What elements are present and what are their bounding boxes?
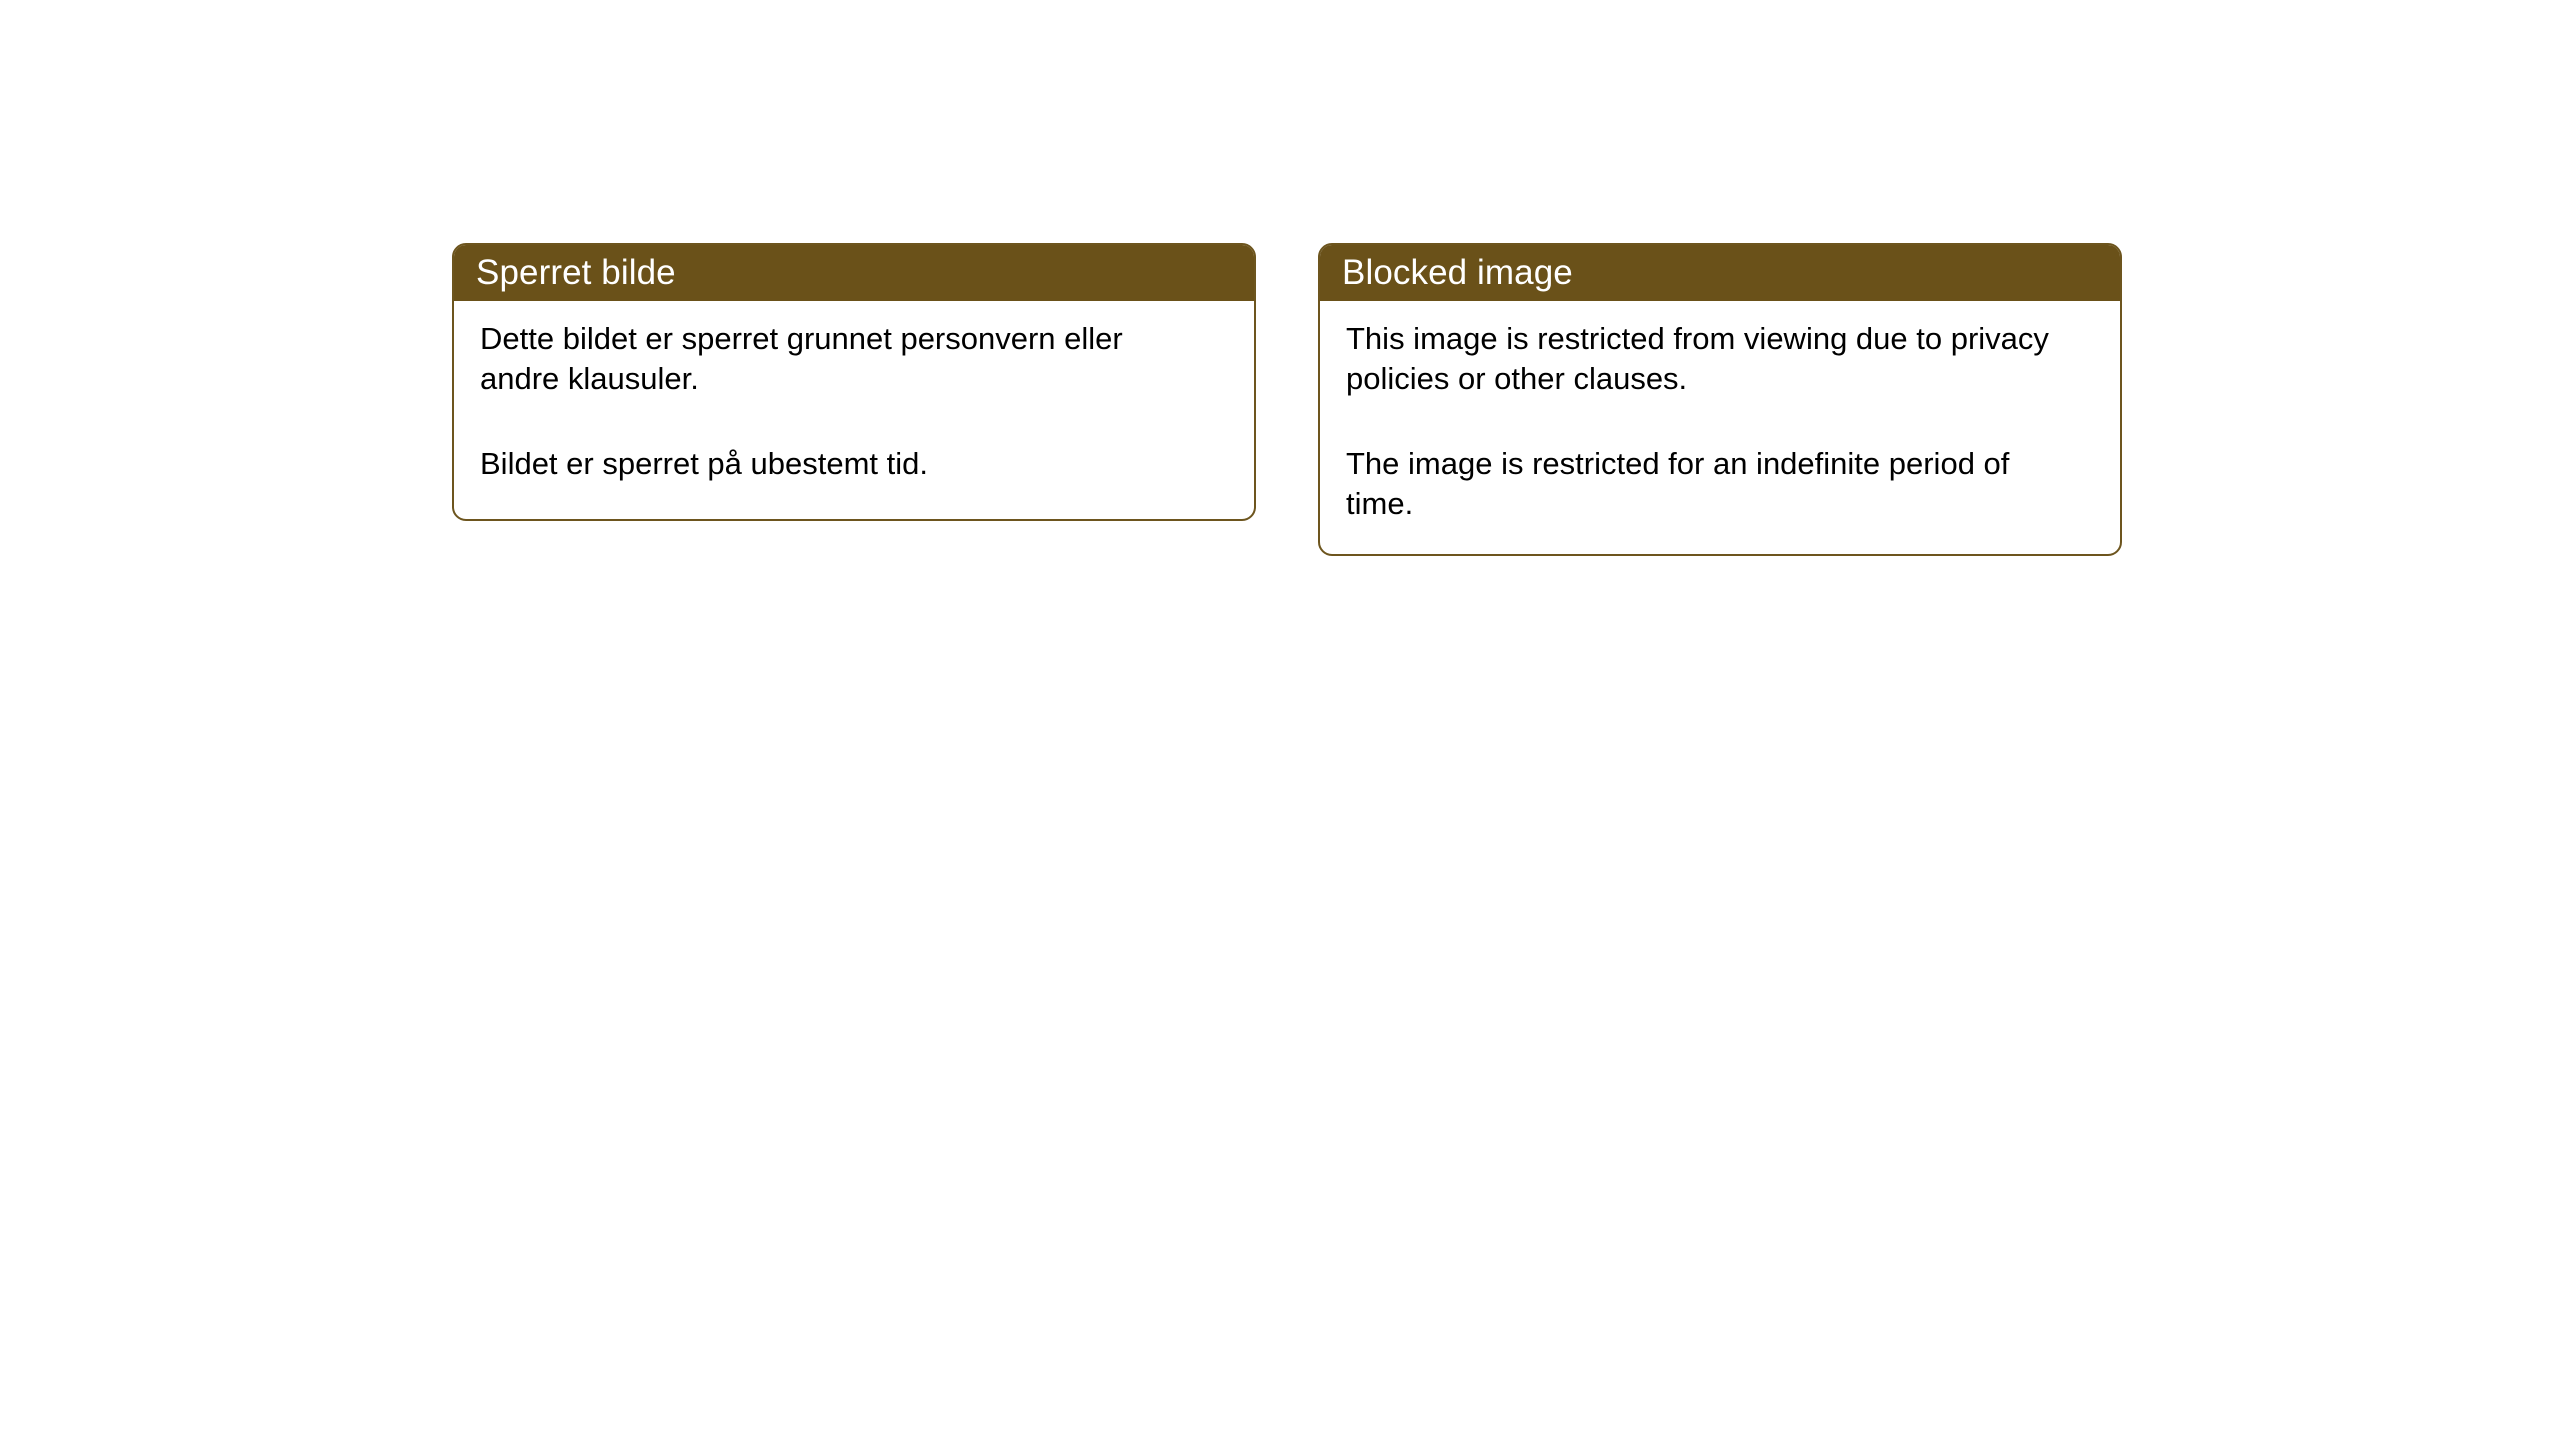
notice-paragraph-duration-en: The image is restricted for an indefinit… xyxy=(1346,444,2076,523)
blocked-image-notice-area: Sperret bilde Dette bildet er sperret gr… xyxy=(452,243,2122,556)
notice-card-body-no: Dette bildet er sperret grunnet personve… xyxy=(454,301,1254,519)
blocked-image-notice-card-en: Blocked image This image is restricted f… xyxy=(1318,243,2122,556)
notice-paragraph-reason-no: Dette bildet er sperret grunnet personve… xyxy=(480,319,1210,398)
notice-card-title-en: Blocked image xyxy=(1342,255,1573,290)
notice-card-header-no: Sperret bilde xyxy=(452,243,1256,301)
notice-card-body-en: This image is restricted from viewing du… xyxy=(1320,301,2120,554)
notice-paragraph-reason-en: This image is restricted from viewing du… xyxy=(1346,319,2076,398)
notice-paragraph-duration-no: Bildet er sperret på ubestemt tid. xyxy=(480,444,1210,484)
blocked-image-notice-card-no: Sperret bilde Dette bildet er sperret gr… xyxy=(452,243,1256,521)
notice-card-header-en: Blocked image xyxy=(1318,243,2122,301)
notice-card-title-no: Sperret bilde xyxy=(476,255,676,290)
